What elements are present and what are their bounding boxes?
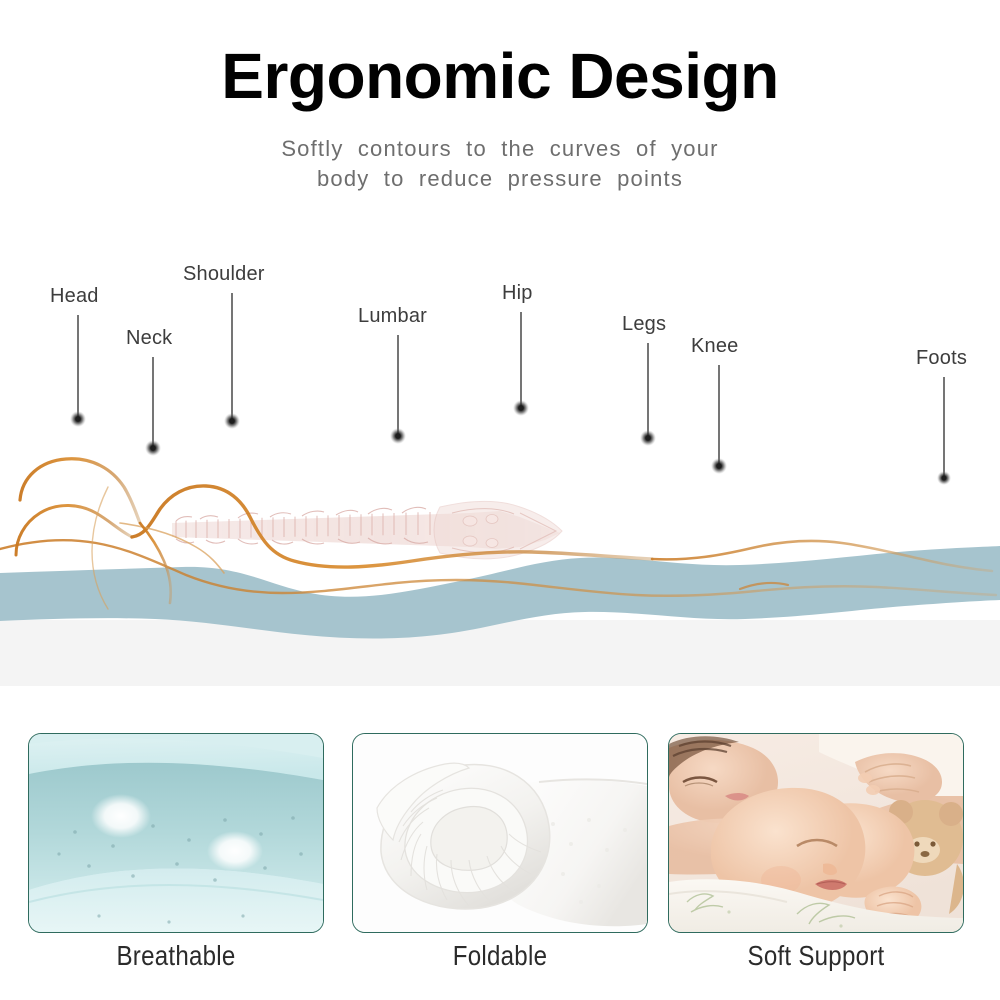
leader-lines bbox=[70, 293, 951, 485]
body-support-diagram: Head Neck Shoulder Lumbar Hip Legs Knee … bbox=[0, 255, 1000, 685]
header: Ergonomic Design Softly contours to the … bbox=[0, 0, 1000, 194]
label-foots: Foots bbox=[916, 347, 967, 370]
label-neck: Neck bbox=[126, 327, 172, 350]
feature-captions: Breathable Foldable Soft Support bbox=[0, 940, 1000, 990]
marker-dot-neck bbox=[145, 440, 161, 456]
caption-foldable: Foldable bbox=[373, 940, 628, 972]
caption-soft-support: Soft Support bbox=[689, 940, 944, 972]
label-lumbar: Lumbar bbox=[358, 305, 427, 328]
label-head: Head bbox=[50, 285, 99, 308]
subtitle-line-2: body to reduce pressure points bbox=[0, 164, 1000, 194]
label-hip: Hip bbox=[502, 282, 533, 305]
spine-illustration bbox=[172, 501, 562, 558]
marker-dot-legs bbox=[640, 430, 656, 446]
card-image-breathable bbox=[29, 734, 323, 932]
infographic-page: Ergonomic Design Softly contours to the … bbox=[0, 0, 1000, 1000]
marker-dot-knee bbox=[711, 458, 727, 474]
leader-dots bbox=[70, 400, 951, 485]
label-knee: Knee bbox=[691, 335, 739, 358]
subtitle-line-1: Softly contours to the curves of your bbox=[281, 136, 718, 161]
caption-breathable: Breathable bbox=[49, 940, 304, 972]
page-title: Ergonomic Design bbox=[0, 44, 1000, 108]
marker-dot-head bbox=[70, 411, 86, 427]
label-legs: Legs bbox=[622, 313, 666, 336]
marker-dot-hip bbox=[513, 400, 529, 416]
marker-dot-foots bbox=[937, 471, 951, 485]
card-image-soft-support bbox=[669, 734, 963, 932]
feature-card-breathable[interactable] bbox=[28, 733, 324, 933]
card-image-foldable bbox=[353, 734, 647, 932]
marker-dot-shoulder bbox=[224, 413, 240, 429]
feature-card-soft-support[interactable] bbox=[668, 733, 964, 933]
marker-dot-lumbar bbox=[390, 428, 406, 444]
feature-cards bbox=[0, 733, 1000, 938]
label-shoulder: Shoulder bbox=[183, 263, 265, 286]
feature-card-foldable[interactable] bbox=[352, 733, 648, 933]
page-subtitle: Softly contours to the curves of your bo… bbox=[0, 134, 1000, 194]
